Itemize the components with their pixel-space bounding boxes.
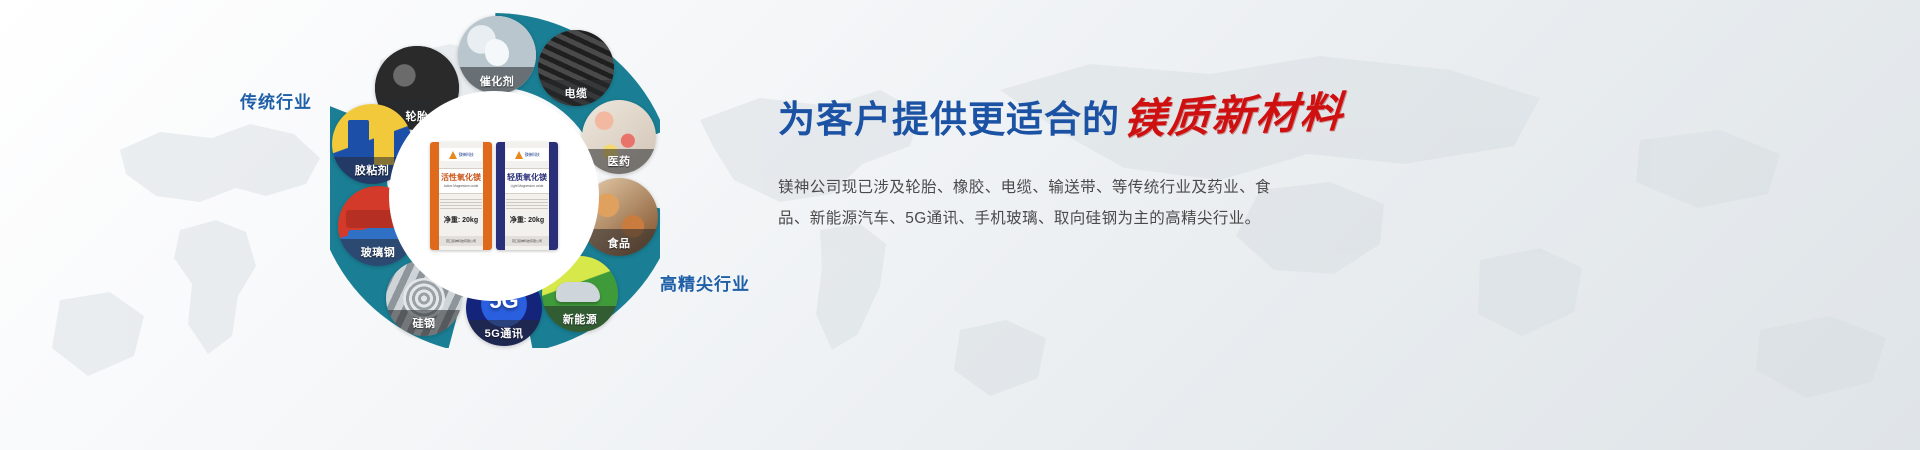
brand-name: 镁神科技 [525, 152, 540, 158]
brand-name: 镁神科技 [459, 152, 474, 158]
brand-logo: 镁神科技 [440, 148, 482, 161]
bag-title: 活性氧化镁 [441, 174, 481, 182]
brand-logo: 镁神科技 [506, 148, 548, 161]
node-label: 新能源 [542, 306, 618, 332]
node-label: 5G通讯 [466, 320, 542, 346]
ring-wrapper: 轮胎催化剂电缆医药食品新能源5G5G通讯硅钢玻璃钢胶粘剂 镁神科技 活性氧化镁 … [330, 8, 660, 348]
bag-footer: 营口镁神科技有限公司 [505, 236, 549, 246]
mountain-logo-icon [449, 151, 457, 159]
node-label: 医药 [582, 149, 656, 174]
node-label: 食品 [580, 229, 658, 256]
bag-weight: 净重: 20kg [510, 215, 544, 225]
headline: 为客户提供更适合的 镁质新材料 [778, 96, 1518, 138]
industry-node-medicine[interactable]: 医药 [582, 100, 656, 174]
industry-ring-infographic: 传统行业 高精尖行业 轮胎催化剂电缆医药食品新能源5G5G通讯硅钢玻璃钢胶粘剂 … [0, 0, 780, 450]
product-bag-activated-magnesia: 镁神科技 活性氧化镁 Active Magnesium oxide 净重: 20… [430, 142, 492, 250]
bag-title: 轻质氧化镁 [507, 174, 547, 182]
center-product-disc: 镁神科技 活性氧化镁 Active Magnesium oxide 净重: 20… [394, 96, 594, 296]
body-paragraph: 镁神公司现已涉及轮胎、橡胶、电缆、输送带、等传统行业及药业、食品、新能源汽车、5… [778, 172, 1278, 234]
headline-primary: 为客户提供更适合的 [778, 101, 1120, 138]
bag-subtitle: Active Magnesium oxide [444, 184, 479, 188]
industry-node-cable[interactable]: 电缆 [538, 30, 614, 106]
headline-accent: 镁质新材料 [1122, 92, 1346, 142]
bag-subtitle: Light Magnesium oxide [511, 184, 544, 188]
mountain-logo-icon [515, 151, 523, 159]
node-label: 硅钢 [386, 310, 462, 336]
label-hightech-industries: 高精尖行业 [660, 270, 750, 295]
banner-copy: 为客户提供更适合的 镁质新材料 镁神公司现已涉及轮胎、橡胶、电缆、输送带、等传统… [778, 96, 1518, 234]
bag-weight: 净重: 20kg [444, 215, 478, 225]
industry-node-catalyst[interactable]: 催化剂 [458, 16, 536, 94]
label-traditional-industries: 传统行业 [240, 88, 312, 113]
bag-footer: 营口镁神科技有限公司 [439, 236, 483, 246]
node-label: 催化剂 [458, 67, 536, 94]
product-bag-light-magnesia: 镁神科技 轻质氧化镁 Light Magnesium oxide 净重: 20k… [496, 142, 558, 250]
